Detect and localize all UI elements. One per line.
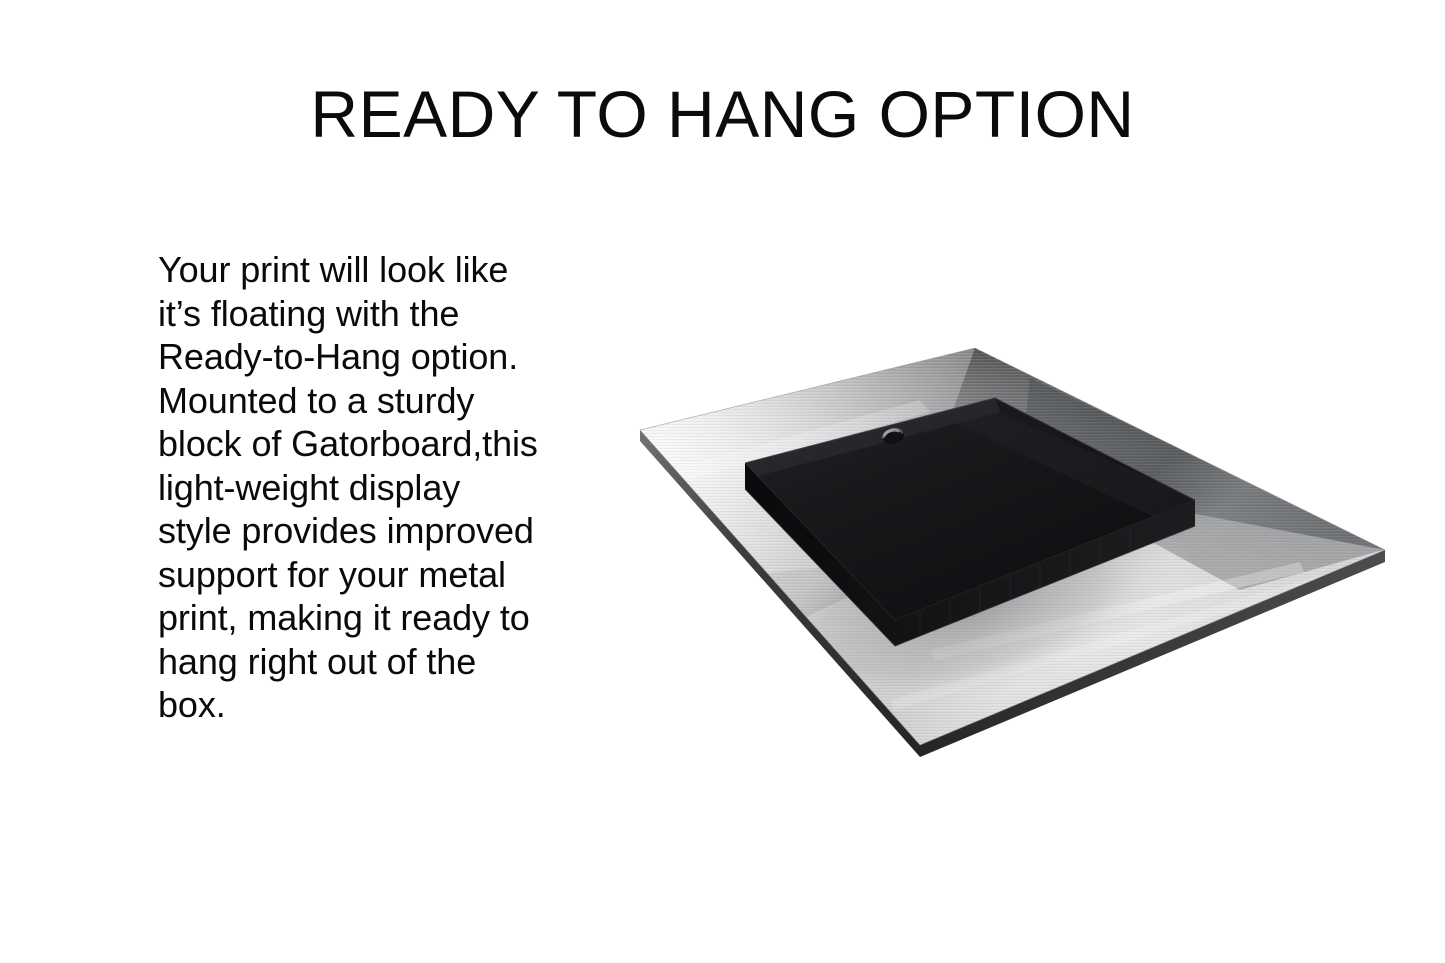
product-illustration [600,320,1420,780]
description-line: support for your metal [158,553,558,597]
description-line: box. [158,683,558,727]
description-line: light-weight display [158,466,558,510]
description-paragraph: Your print will look like it’s floating … [158,248,558,727]
description-line: print, making it ready to [158,596,558,640]
description-line: Ready-to-Hang option. [158,335,558,379]
description-line: Mounted to a sturdy [158,379,558,423]
slide-canvas: READY TO HANG OPTION Your print will loo… [0,0,1445,963]
description-line: Your print will look like [158,248,558,292]
page-title: READY TO HANG OPTION [0,78,1445,150]
description-line: style provides improved [158,509,558,553]
description-line: block of Gatorboard,this [158,422,558,466]
description-line: hang right out of the [158,640,558,684]
description-line: it’s floating with the [158,292,558,336]
